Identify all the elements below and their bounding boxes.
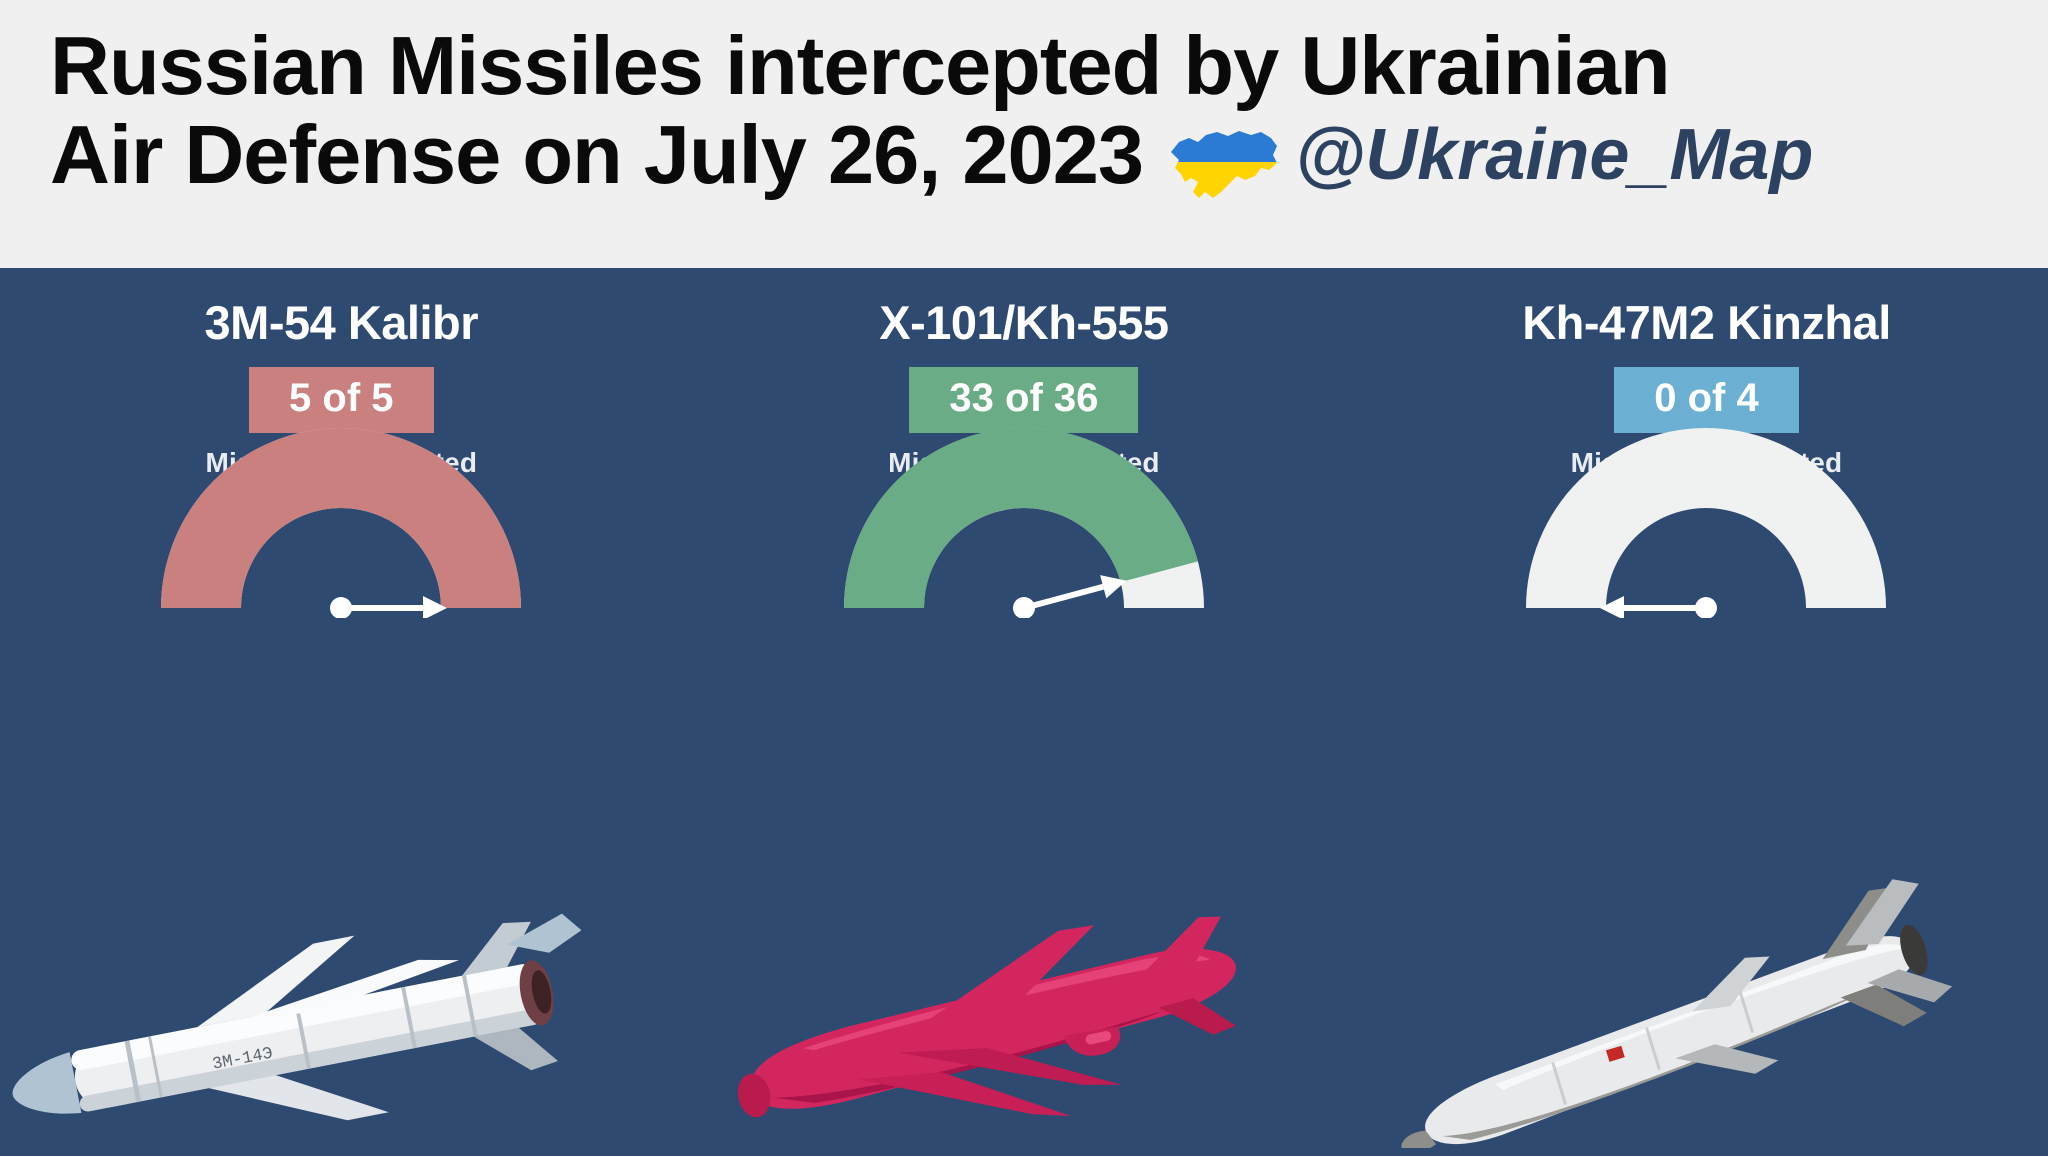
panel-x101: X-101/Kh-555 33 of 36 Missiles Intercept… — [683, 268, 1366, 1156]
gauge-needle — [1600, 596, 1717, 618]
gauge-value-arc — [161, 428, 521, 608]
panel-kalibr: 3M-54 Kalibr 5 of 5 Missiles Intercepted — [0, 268, 683, 1156]
gauge-track — [1526, 428, 1886, 608]
page-title-line1: Russian Missiles intercepted by Ukrainia… — [50, 22, 1670, 111]
kh101-missile-icon — [683, 848, 1366, 1148]
gauge-needle — [1010, 569, 1129, 618]
panel-title: X-101/Kh-555 — [683, 295, 1366, 350]
infographic-root: Russian Missiles intercepted by Ukrainia… — [0, 0, 2048, 1156]
panel-title: 3M-54 Kalibr — [0, 295, 683, 350]
gauge-x101 — [834, 418, 1214, 618]
kalibr-missile-icon: 3M-14Э — [0, 848, 683, 1148]
gauge-kalibr — [151, 418, 531, 618]
panel-title: Kh-47M2 Kinzhal — [1365, 295, 2048, 350]
panels-container: 3M-54 Kalibr 5 of 5 Missiles Intercepted — [0, 268, 2048, 1156]
page-title-line2: Air Defense on July 26, 2023 — [50, 111, 1143, 200]
panel-kinzhal: Kh-47M2 Kinzhal 0 of 4 Missiles Intercep… — [1365, 268, 2048, 1156]
header-line-1: Russian Missiles intercepted by Ukrainia… — [50, 22, 2048, 111]
account-handle[interactable]: @Ukraine_Map — [1295, 114, 1813, 196]
gauge-kinzhal — [1516, 418, 1896, 618]
gauge-needle — [330, 596, 447, 618]
ukraine-map-flag-icon — [1165, 118, 1285, 204]
header-bar: Russian Missiles intercepted by Ukrainia… — [0, 0, 2048, 268]
kinzhal-missile-icon — [1365, 848, 2048, 1148]
header-line-2: Air Defense on July 26, 2023 @Ukraine_Ma… — [50, 111, 2048, 200]
